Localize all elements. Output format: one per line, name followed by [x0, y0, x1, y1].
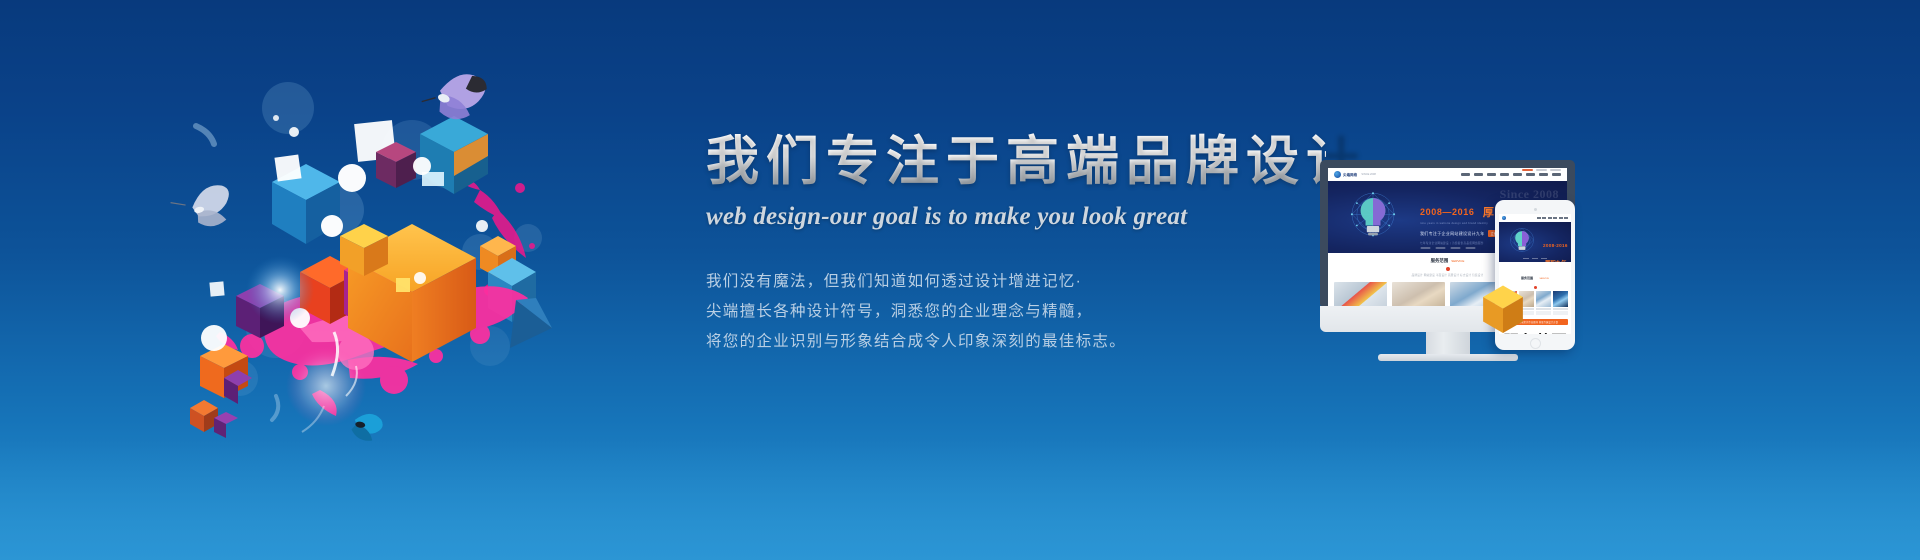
- nav-item: [1552, 173, 1561, 175]
- slider-dot[interactable]: [1532, 258, 1538, 259]
- website-header: 尖端网络 SINCE 2008: [1328, 168, 1567, 181]
- mobile-nav: [1537, 217, 1569, 218]
- section-title-en: SERVICE: [1539, 278, 1549, 280]
- banner-description: 我们没有魔法，但我们知道如何透过设计增进记忆· 尖端擅长各种设计符号，洞悉您的企…: [706, 267, 1326, 357]
- hero-years: 2008—2016: [1420, 207, 1474, 217]
- thumbnail-item[interactable]: [1334, 282, 1387, 306]
- nav-item: [1513, 173, 1522, 175]
- butterfly-top-right: [420, 63, 490, 126]
- page-title: 我们专注于高端品牌设计: [706, 132, 1326, 191]
- hero-slider-dots[interactable]: [1420, 247, 1475, 249]
- description-line: 尖端擅长各种设计符号，洞悉您的企业理念与精髓，: [706, 297, 1326, 327]
- page-subtitle: web design-our goal is to make you look …: [706, 203, 1326, 231]
- topbar-email: [1536, 169, 1547, 171]
- nav-item: [1500, 173, 1509, 175]
- site-logo-text: 尖端网络: [1343, 172, 1357, 177]
- website-topbar: [1522, 169, 1561, 171]
- section-bullet-icon: [1534, 286, 1537, 289]
- butterfly-bottom: [350, 412, 384, 443]
- front-camera-icon: [1534, 208, 1537, 211]
- nav-item: [1564, 217, 1568, 218]
- description-line: 我们没有魔法，但我们知道如何透过设计增进记忆·: [706, 267, 1326, 297]
- nav-item: [1461, 173, 1470, 175]
- slider-dot[interactable]: [1541, 258, 1547, 259]
- mobile-slider-dots[interactable]: [1523, 258, 1547, 259]
- caption-block: [1536, 311, 1551, 315]
- monitor-stand-neck: [1426, 332, 1470, 354]
- section-title: 服务范围: [1521, 276, 1533, 280]
- logo-mark-icon: [1334, 171, 1341, 178]
- butterfly-left: [169, 182, 236, 234]
- hero-title: 厚积九年: [1545, 259, 1567, 262]
- topbar-link: [1550, 169, 1561, 171]
- hero-banner: 我们专注于高端品牌设计 web design-our goal is to ma…: [0, 0, 1920, 560]
- caption-block: [1553, 311, 1568, 315]
- website-nav: [1461, 173, 1561, 175]
- thumbnail-item[interactable]: [1536, 291, 1551, 307]
- slider-dot[interactable]: [1420, 247, 1430, 249]
- banner-copy: 我们专注于高端品牌设计 web design-our goal is to ma…: [706, 132, 1326, 357]
- nav-item: [1542, 217, 1546, 218]
- nav-item: [1487, 173, 1496, 175]
- nav-item: [1553, 217, 1557, 218]
- logo-mark-icon: [1502, 216, 1506, 220]
- mobile-hero: 2008-2016 厚积九年 专注企业网站建设设计九年 咨询: [1499, 222, 1571, 262]
- home-button-icon[interactable]: [1530, 338, 1541, 349]
- nav-item: [1474, 173, 1483, 175]
- hero-line-text: 我们专注于企业网站建设设计九年: [1420, 231, 1485, 237]
- nav-item: [1537, 217, 1541, 218]
- slider-dot[interactable]: [1435, 247, 1445, 249]
- gold-cube: [1480, 284, 1526, 336]
- topbar-phone: [1522, 169, 1533, 171]
- slider-dot[interactable]: [1523, 258, 1529, 259]
- slider-dot[interactable]: [1465, 247, 1475, 249]
- thumbnail-item[interactable]: [1553, 291, 1568, 307]
- section-bullet-icon: [1446, 267, 1450, 271]
- caption-line: [1536, 308, 1551, 310]
- slider-dot[interactable]: [1450, 247, 1460, 249]
- section-title: 服务范围: [1431, 258, 1449, 264]
- monitor-stand-base: [1378, 354, 1518, 361]
- mobile-header: [1499, 214, 1571, 222]
- mobile-hero-text: 2008-2016 厚积九年 专注企业网站建设设计九年 咨询: [1543, 234, 1571, 262]
- section-title-en: SERVICE: [1451, 259, 1464, 263]
- site-logo-subtext: SINCE 2008: [1361, 173, 1375, 176]
- description-line: 将您的企业识别与形象结合成令人印象深刻的最佳标志。: [706, 327, 1326, 357]
- device-mockups: 尖端网络 SINCE 2008: [1320, 160, 1650, 390]
- lightbulb-network-icon: [1342, 187, 1404, 249]
- nav-item: [1539, 173, 1548, 175]
- thumbnail-item[interactable]: [1392, 282, 1445, 306]
- site-logo: 尖端网络 SINCE 2008: [1334, 171, 1376, 178]
- nav-item: [1526, 173, 1535, 175]
- lightbulb-network-icon: [1505, 225, 1539, 259]
- abstract-artwork: [180, 60, 600, 460]
- caption-line: [1553, 308, 1568, 310]
- nav-item: [1559, 217, 1563, 218]
- hero-years: 2008-2016: [1543, 243, 1568, 248]
- nav-item: [1548, 217, 1552, 218]
